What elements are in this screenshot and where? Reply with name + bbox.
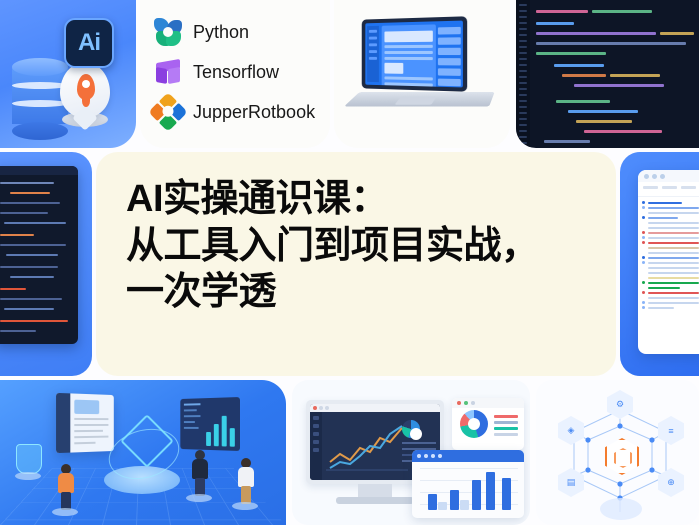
doc-panel	[620, 152, 699, 376]
iso-panel	[0, 380, 286, 525]
tech-label-tensorflow: Tensorflow	[193, 62, 279, 83]
page-title: AI实操通识课： 从工具入门到项目实战， 一次学透	[126, 176, 596, 316]
monitor-foot	[336, 497, 414, 504]
hex-node-glyph: ▤	[567, 477, 576, 488]
browser-titlebar	[310, 404, 440, 412]
pin-dot	[82, 80, 90, 88]
hex-base-glow	[600, 498, 642, 520]
editor-titlebar	[0, 166, 78, 175]
bar-chart-card	[412, 450, 524, 518]
title-banner: AI实操通识课： 从工具入门到项目实战， 一次学透	[96, 152, 616, 376]
hex-node-glyph: ⚙	[616, 399, 624, 410]
hex-node-glyph: ≡	[668, 426, 673, 436]
network-panel: ⚙ ≡ ⊕ ◈ ▤	[536, 380, 699, 525]
donut-legend	[494, 412, 518, 439]
code-gutter	[516, 0, 530, 148]
tech-label-python: Python	[193, 22, 249, 43]
doc-body	[638, 197, 699, 310]
iso-plate	[52, 508, 78, 516]
tech-item-tensorflow[interactable]: Tensorflow	[154, 58, 279, 86]
doc-tabs[interactable]	[638, 182, 699, 197]
dashboard-panel	[292, 380, 530, 525]
donut-chart	[460, 410, 488, 438]
hex-node-glyph: ◈	[568, 425, 575, 436]
ai-badge-label: Ai	[78, 29, 100, 57]
bar-card-titlebar	[412, 450, 524, 462]
iso-screen-chart	[180, 397, 240, 451]
hex-node-glyph: ⊕	[667, 477, 675, 488]
laptop-panel	[334, 0, 510, 148]
ai-data-panel: Ai	[0, 0, 136, 148]
iso-screen-left	[56, 393, 114, 453]
title-line-1: AI实操通识课：	[126, 176, 596, 223]
iso-plate	[15, 472, 41, 480]
python-logo-icon	[154, 18, 182, 46]
monitor-neck	[358, 484, 392, 498]
donut-chart-card	[452, 398, 524, 450]
doc-titlebar	[638, 170, 699, 182]
tech-item-python[interactable]: Python	[154, 18, 249, 46]
laptop-trackpad	[395, 96, 437, 104]
dashboard-sidebar[interactable]	[310, 412, 322, 480]
jupyter-pinwheel-icon	[148, 92, 188, 132]
poster-canvas: Ai Python Tensorflow JupperRotbook	[0, 0, 699, 525]
iso-plate	[186, 494, 212, 502]
bar-chart	[412, 462, 524, 518]
laptop-illustration-icon	[362, 16, 467, 92]
iso-shield-icon	[16, 444, 42, 474]
list-item[interactable]	[638, 305, 699, 310]
line-chart	[326, 418, 408, 474]
tech-label-jupyter: JupperRotbook	[193, 102, 315, 123]
tech-item-jupyter[interactable]: JupperRotbook	[154, 98, 315, 126]
document-outline-icon	[638, 170, 699, 354]
ai-badge: Ai	[64, 18, 114, 68]
code-panel-left	[0, 152, 92, 376]
iso-plate	[232, 502, 258, 510]
title-line-2: 从工具入门到项目实战，	[126, 223, 596, 270]
tensorflow-box-icon	[154, 58, 182, 86]
code-editor-dark-icon	[0, 166, 78, 344]
title-line-3: 一次学透	[126, 269, 596, 316]
tech-stack-panel: Python Tensorflow JupperRotbook	[140, 0, 330, 148]
code-panel-top	[516, 0, 699, 148]
